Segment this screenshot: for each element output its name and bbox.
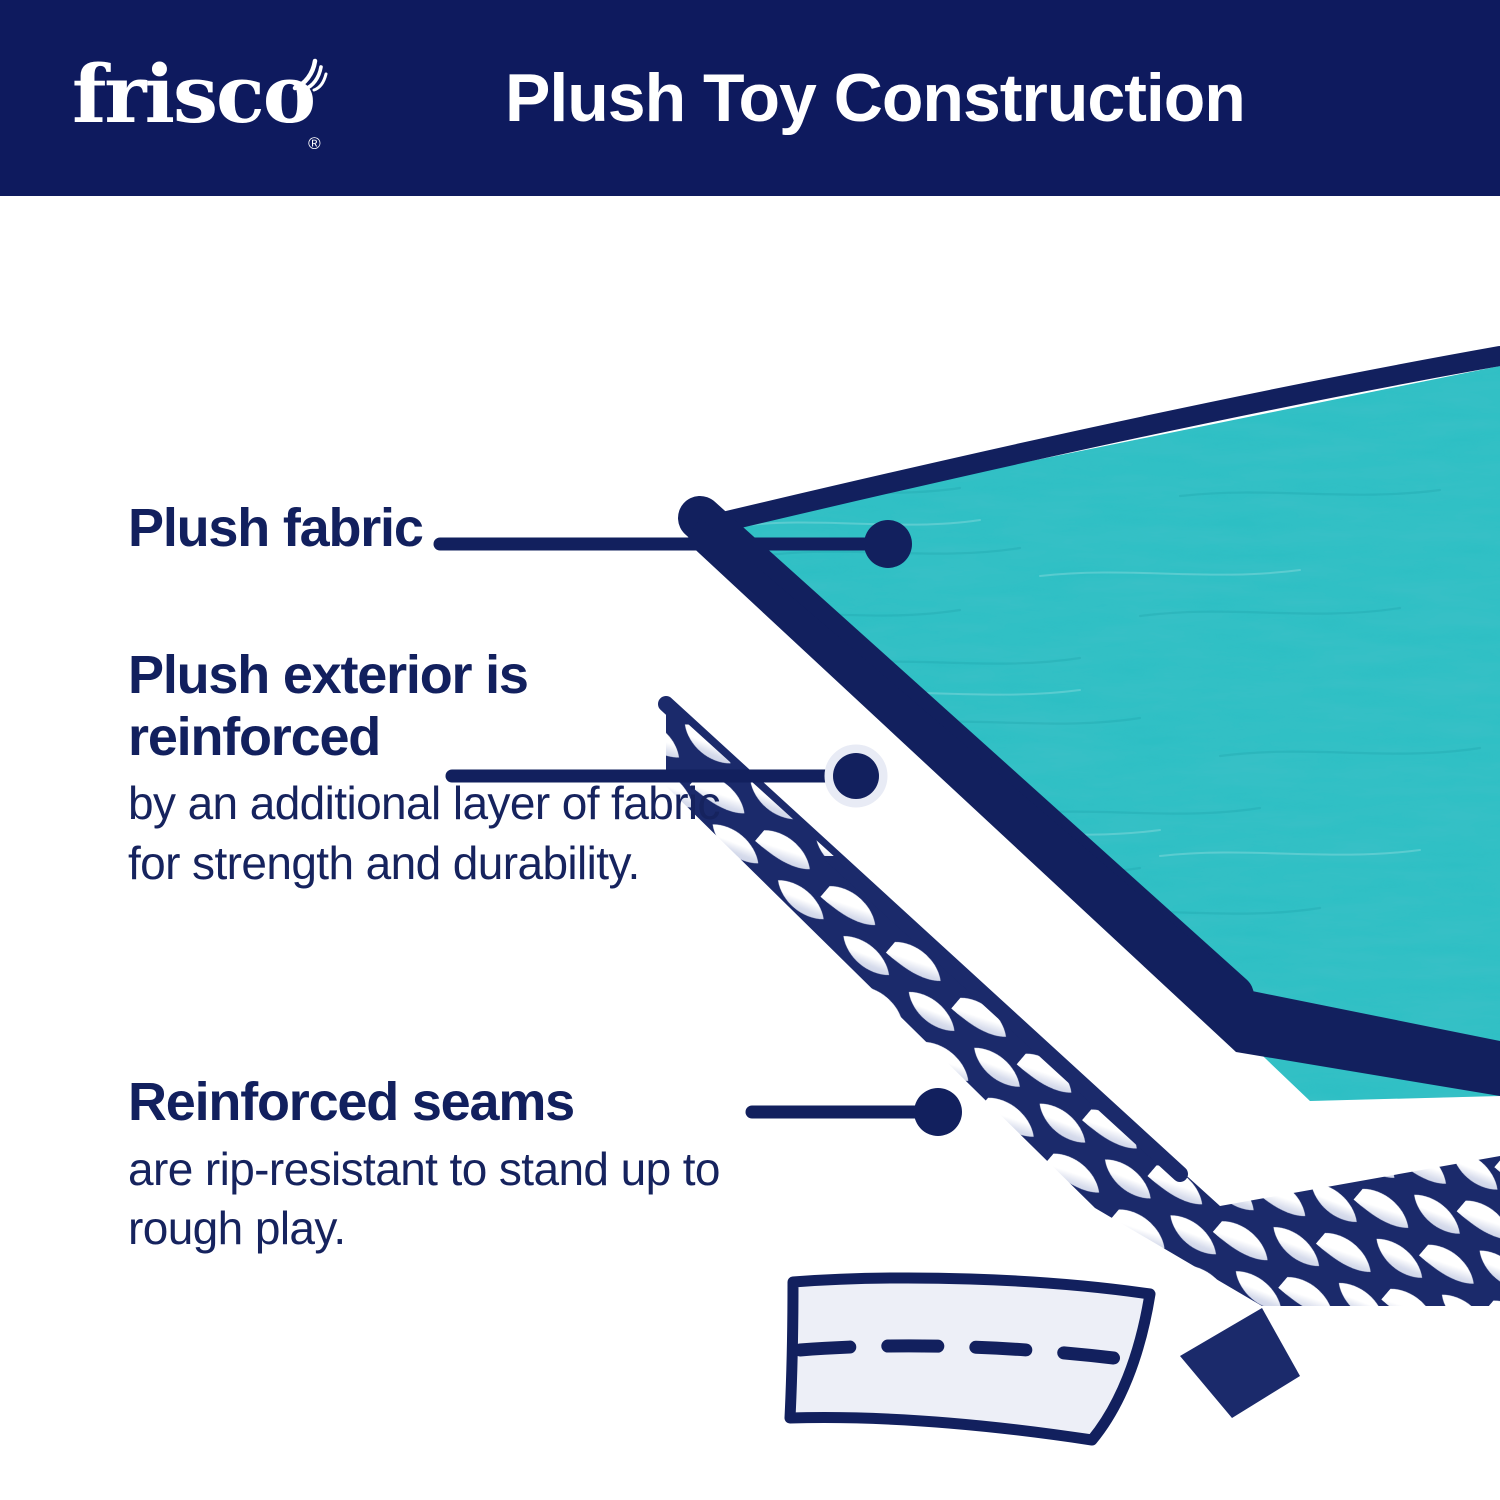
callout-plush-exterior: Plush exterior is reinforced by an addit… — [128, 645, 728, 894]
callout-reinforced-seams: Reinforced seams are rip-resistant to st… — [128, 1072, 728, 1259]
callout-plush-exterior-body: by an additional layer of fabric for str… — [128, 774, 728, 894]
brand-wordmark: frisco — [72, 47, 314, 141]
plush-fabric-layer — [620, 316, 1500, 1136]
leader-dot-plush-fabric — [864, 520, 912, 568]
seam-flap-panel — [790, 1278, 1150, 1440]
leader-dot-reinforced-seams — [914, 1088, 962, 1136]
callout-reinforced-seams-body: are rip-resistant to stand up to rough p… — [128, 1140, 728, 1260]
callout-reinforced-seams-heading: Reinforced seams — [128, 1072, 728, 1134]
leader-line-reinforced-seams — [752, 1088, 962, 1136]
callout-plush-fabric: Plush fabric — [128, 498, 423, 560]
page-title: Plush Toy Construction — [505, 64, 1245, 132]
page-header: frisco® Plush Toy Construction — [0, 0, 1500, 196]
leader-dot-plush-exterior — [833, 753, 879, 799]
mesh-bottom-tip — [1180, 1308, 1300, 1418]
frisco-logo: frisco® — [72, 54, 325, 142]
callout-plush-fabric-heading: Plush fabric — [128, 498, 423, 560]
callout-plush-exterior-heading: Plush exterior is reinforced — [128, 645, 688, 768]
registered-trademark-icon: ® — [308, 134, 319, 153]
